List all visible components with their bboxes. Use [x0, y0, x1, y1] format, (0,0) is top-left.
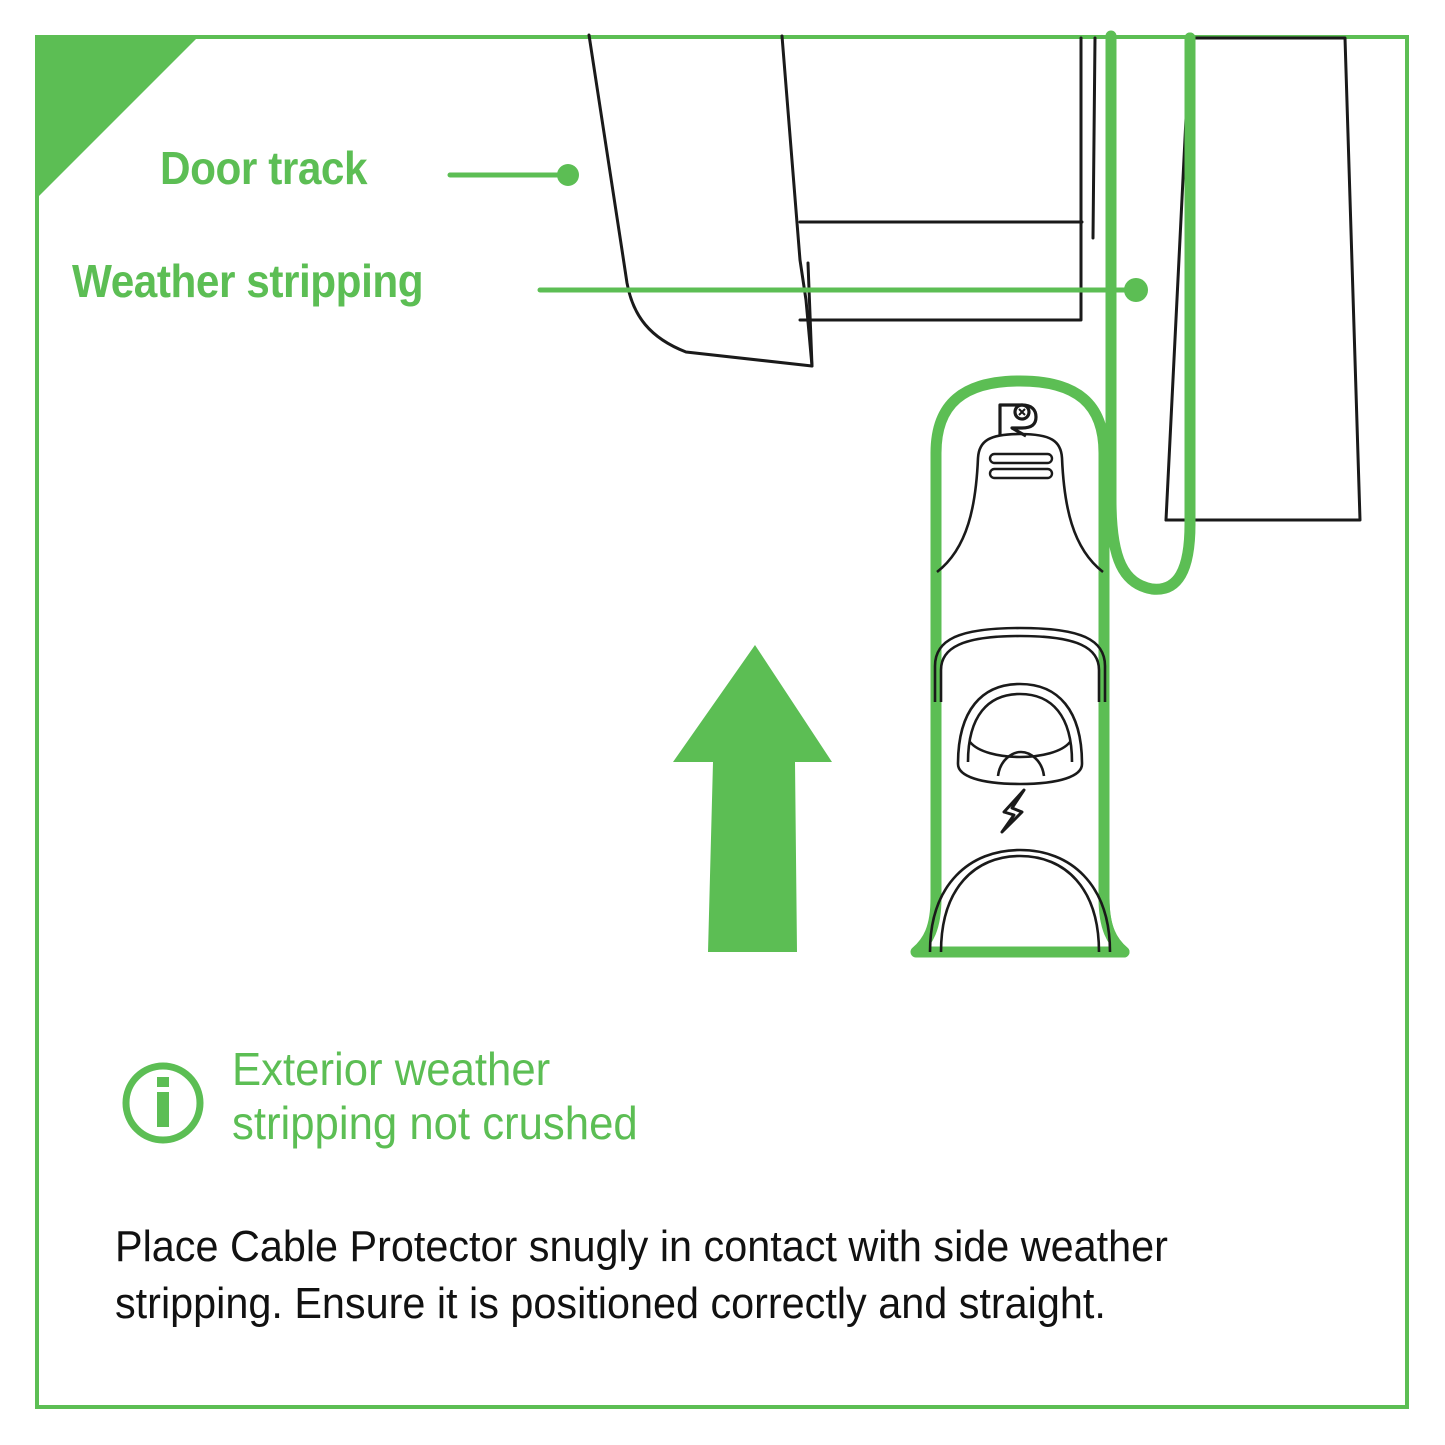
note-line-2: stripping not crushed	[232, 1096, 821, 1150]
info-icon	[126, 1066, 200, 1140]
vent-slot-icon	[990, 469, 1052, 478]
weather-stripping-leader-dot	[1124, 278, 1148, 302]
weather-stripping-seal	[1111, 36, 1190, 589]
note-line-1: Exterior weather	[232, 1042, 821, 1096]
note-text-block: Exterior weather stripping not crushed	[232, 1042, 821, 1151]
device-body-outline	[936, 381, 1124, 952]
instruction-text-block: Place Cable Protector snugly in contact …	[115, 1218, 1257, 1332]
cable-protector-device	[916, 381, 1124, 952]
instruction-line-2: stripping. Ensure it is positioned corre…	[115, 1275, 1257, 1332]
door-track-leader-dot	[557, 164, 579, 186]
callout-label-door-track: Door track	[160, 145, 367, 191]
direction-arrow-up	[673, 645, 832, 952]
instruction-line-1: Place Cable Protector snugly in contact …	[115, 1218, 1257, 1275]
cable-channel-port	[935, 628, 1105, 784]
callout-label-weather-stripping: Weather stripping	[72, 258, 423, 304]
lightning-bolt-icon	[1002, 790, 1024, 832]
brand-logo-r-icon	[1000, 405, 1036, 436]
instruction-card: Door track Weather stripping Exterior we…	[0, 0, 1445, 1445]
vent-slot-icon	[990, 454, 1052, 463]
callout-door-track	[450, 164, 579, 186]
door-track-lineart	[589, 35, 1360, 520]
